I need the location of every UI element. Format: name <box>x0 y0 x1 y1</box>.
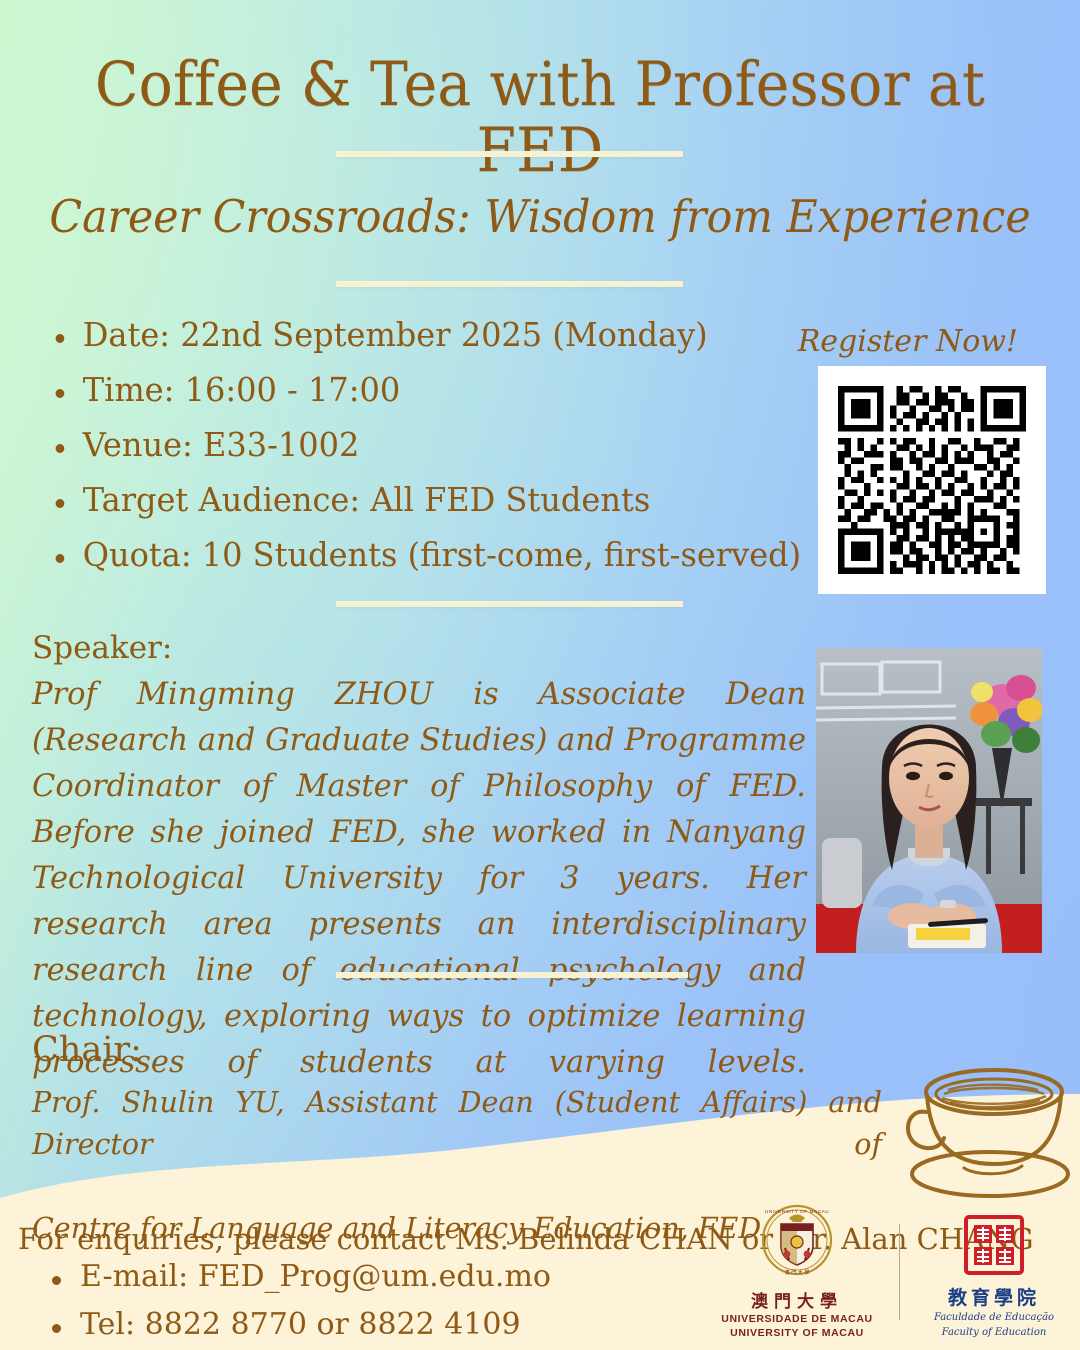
page-title: Coffee & Tea with Professor at FED <box>38 52 1042 184</box>
list-item: Time: 16:00 - 17:00 <box>42 373 750 406</box>
svg-text:UNIVERSITY OF MACAU: UNIVERSITY OF MACAU <box>765 1209 829 1214</box>
speaker-photo-image <box>816 648 1042 953</box>
um-logo-chinese: 澳門大學 <box>721 1287 873 1312</box>
contacts-list: E-mail: FED_Prog@um.edu.mo Tel: 8822 877… <box>40 1262 551 1350</box>
divider-4 <box>336 972 688 978</box>
list-item: Date: 22nd September 2025 (Monday) <box>42 318 750 351</box>
list-item: Target Audience: All FED Students <box>42 483 750 516</box>
logo-divider <box>899 1224 900 1320</box>
svg-text:澳 門 大 學: 澳 門 大 學 <box>785 1269 810 1276</box>
um-logo-english: UNIVERSITY OF MACAU <box>721 1326 873 1340</box>
um-logo-portuguese: UNIVERSIDADE DE MACAU <box>721 1312 873 1326</box>
university-of-macau-logo: UNIVERSITY OF MACAU 澳 門 大 學 澳門大學 UNIVERS… <box>721 1204 873 1340</box>
speaker-photo <box>816 648 1042 953</box>
qr-code[interactable] <box>818 366 1046 594</box>
fed-seal-icon <box>926 1215 1062 1277</box>
divider-1 <box>336 151 683 157</box>
list-item-email[interactable]: E-mail: FED_Prog@um.edu.mo <box>40 1262 551 1292</box>
logo-group: UNIVERSITY OF MACAU 澳 門 大 學 澳門大學 UNIVERS… <box>721 1204 1062 1340</box>
fed-logo-english: Faculty of Education <box>926 1325 1062 1340</box>
page-subtitle: Career Crossroads: Wisdom from Experienc… <box>27 192 1053 242</box>
register-now-label: Register Now! <box>798 324 1018 359</box>
coffee-cup-sketch <box>886 1052 1080 1204</box>
list-item-tel: Tel: 8822 8770 or 8822 4109 <box>40 1310 551 1340</box>
coffee-cup-icon <box>886 1052 1080 1204</box>
chair-line-1: Prof. Shulin YU, Assistant Dean (Student… <box>32 1082 882 1208</box>
poster-canvas: Coffee & Tea with Professor at FED Caree… <box>0 0 1080 1350</box>
divider-2 <box>336 281 683 287</box>
speaker-label: Speaker: <box>32 630 172 666</box>
chair-label: Chair: <box>32 1030 142 1070</box>
fed-logo-portuguese: Faculdade de Educação <box>926 1310 1062 1325</box>
um-crest-icon: UNIVERSITY OF MACAU 澳 門 大 學 <box>721 1204 873 1282</box>
qr-code-icon <box>838 386 1026 574</box>
divider-3 <box>336 601 683 607</box>
faculty-of-education-logo: 教育學院 Faculdade de Educação Faculty of Ed… <box>926 1215 1062 1340</box>
event-details-list: Date: 22nd September 2025 (Monday) Time:… <box>42 318 772 593</box>
speaker-bio: Prof Mingming ZHOU is Associate Dean (Re… <box>32 672 806 1132</box>
list-item: Quota: 10 Students (first-come, first-se… <box>42 538 750 571</box>
list-item: Venue: E33-1002 <box>42 428 750 461</box>
fed-logo-chinese: 教育學院 <box>926 1283 1062 1310</box>
